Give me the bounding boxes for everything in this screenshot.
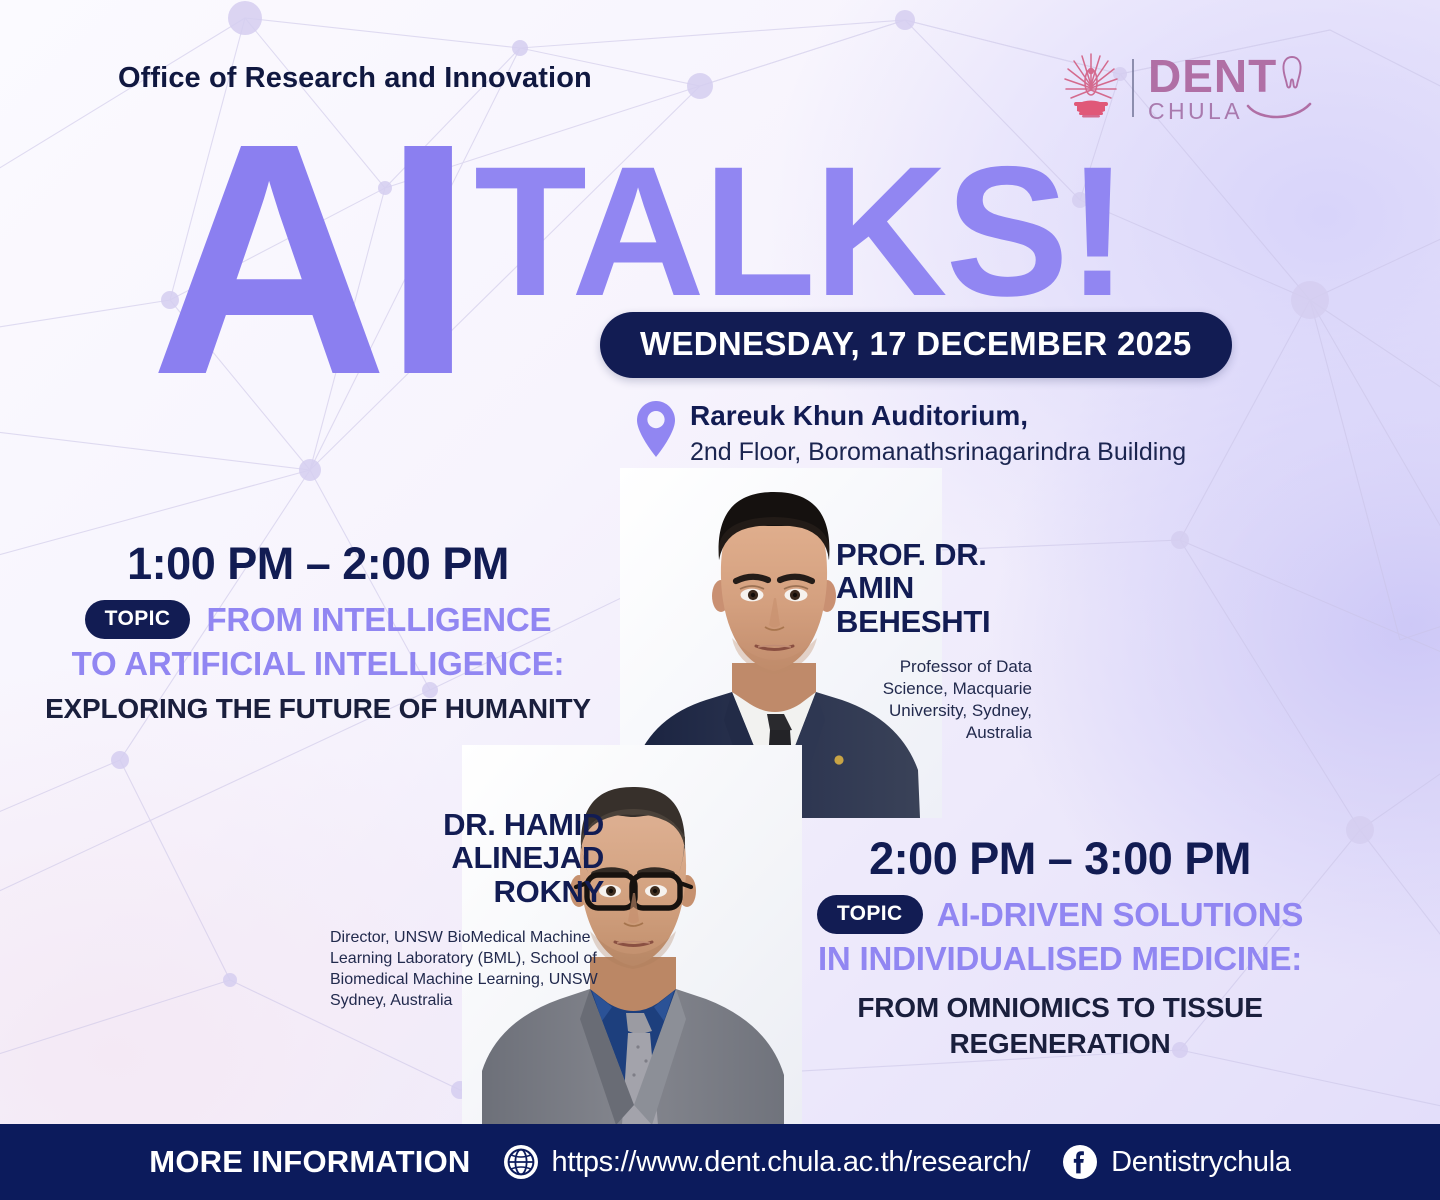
venue-address: 2nd Floor, Boromanathsrinagarindra Build… [690,436,1186,469]
session-2-time: 2:00 PM – 3:00 PM [790,833,1330,885]
globe-icon [503,1144,539,1180]
logo-dent-text: DENT [1148,53,1277,99]
speaker-1-name-line3: BEHESHTI [836,605,1032,638]
speaker-2-name-line3: ROKNY [330,875,604,908]
header: Office of Research and Innovation [118,62,592,95]
speaker-2-name-line2: ALINEJAD [330,841,604,874]
speaker-1-name-line2: AMIN [836,571,1032,604]
logo-divider [1132,59,1134,117]
hero-ai-text: AI [150,120,468,397]
more-information-label: MORE INFORMATION [149,1144,470,1180]
session-1-block: 1:00 PM – 2:00 PM TOPIC FROM INTELLIGENC… [0,538,636,725]
logo-chula-text: CHULA [1148,100,1243,123]
speaker-2-info: DR. HAMID ALINEJAD ROKNY Director, UNSW … [330,808,604,1012]
session-1-time: 1:00 PM – 2:00 PM [0,538,636,590]
session-1-subtitle: EXPLORING THE FUTURE OF HUMANITY [0,693,636,725]
session-1-topic-line1: FROM INTELLIGENCE [206,601,551,639]
session-2-topic-line1: AI-DRIVEN SOLUTIONS [937,896,1304,934]
facebook-link[interactable]: Dentistrychula [1062,1144,1291,1180]
logo-swoosh-icon [1246,102,1312,122]
location-pin-icon [636,400,676,458]
session-2-topic-badge: TOPIC [817,895,923,934]
speaker-1-info: PROF. DR. AMIN BEHESHTI Professor of Dat… [836,538,1032,743]
session-2-topic-line2: IN INDIVIDUALISED MEDICINE: [790,940,1330,978]
hero-talks-text: TALKS! [474,140,1126,325]
footer-bar: MORE INFORMATION https://www.dent.chula.… [0,1124,1440,1200]
session-2-block: 2:00 PM – 3:00 PM TOPIC AI-DRIVEN SOLUTI… [790,833,1330,1063]
venue-name: Rareuk Khun Auditorium, [690,398,1186,433]
page-title: Office of Research and Innovation [118,62,592,95]
facebook-handle: Dentistrychula [1111,1146,1291,1179]
venue-block: Rareuk Khun Auditorium, 2nd Floor, Borom… [636,398,1186,469]
speaker-1-role: Professor of Data Science, Macquarie Uni… [836,656,1032,743]
session-2-subtitle: FROM OMNIOMICS TO TISSUE REGENERATION [790,990,1330,1063]
session-1-topic-line2: TO ARTIFICIAL INTELLIGENCE: [0,645,636,683]
facebook-icon [1062,1144,1098,1180]
chulalongkorn-emblem-icon [1064,52,1118,124]
speaker-1-name-line1: PROF. DR. [836,538,1032,571]
website-url: https://www.dent.chula.ac.th/research/ [552,1146,1031,1179]
tooth-icon [1281,55,1303,89]
website-link[interactable]: https://www.dent.chula.ac.th/research/ [503,1144,1031,1180]
session-1-topic-badge: TOPIC [85,600,191,639]
speaker-2-name-line1: DR. HAMID [330,808,604,841]
event-date-badge: WEDNESDAY, 17 DECEMBER 2025 [600,312,1232,378]
dent-chula-logo: DENT CHULA [1064,52,1312,124]
speaker-2-role: Director, UNSW BioMedical Machine Learni… [330,928,604,1011]
